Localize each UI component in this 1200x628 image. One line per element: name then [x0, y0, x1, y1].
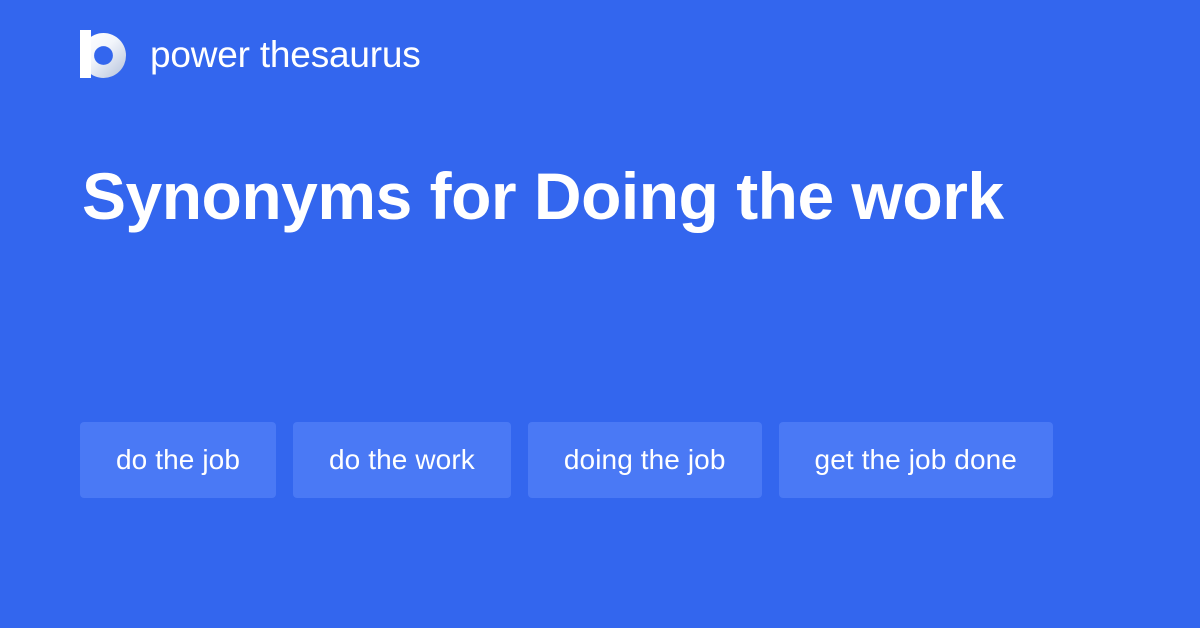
power-thesaurus-b-logo-icon: [80, 30, 126, 78]
brand-name: power thesaurus: [150, 36, 421, 73]
synonym-chip[interactable]: get the job done: [779, 422, 1053, 498]
page-title: Synonyms for Doing the work: [82, 140, 1042, 254]
share-card: power thesaurus Synonyms for Doing the w…: [0, 0, 1200, 628]
brand-lockup[interactable]: power thesaurus: [80, 28, 421, 80]
synonym-chip[interactable]: doing the job: [528, 422, 762, 498]
page-title-text: Synonyms for Doing the work: [82, 140, 1042, 254]
synonym-chip[interactable]: do the work: [293, 422, 511, 498]
synonym-chip-list: do the job do the work doing the job get…: [80, 422, 1120, 498]
synonym-chip[interactable]: do the job: [80, 422, 276, 498]
